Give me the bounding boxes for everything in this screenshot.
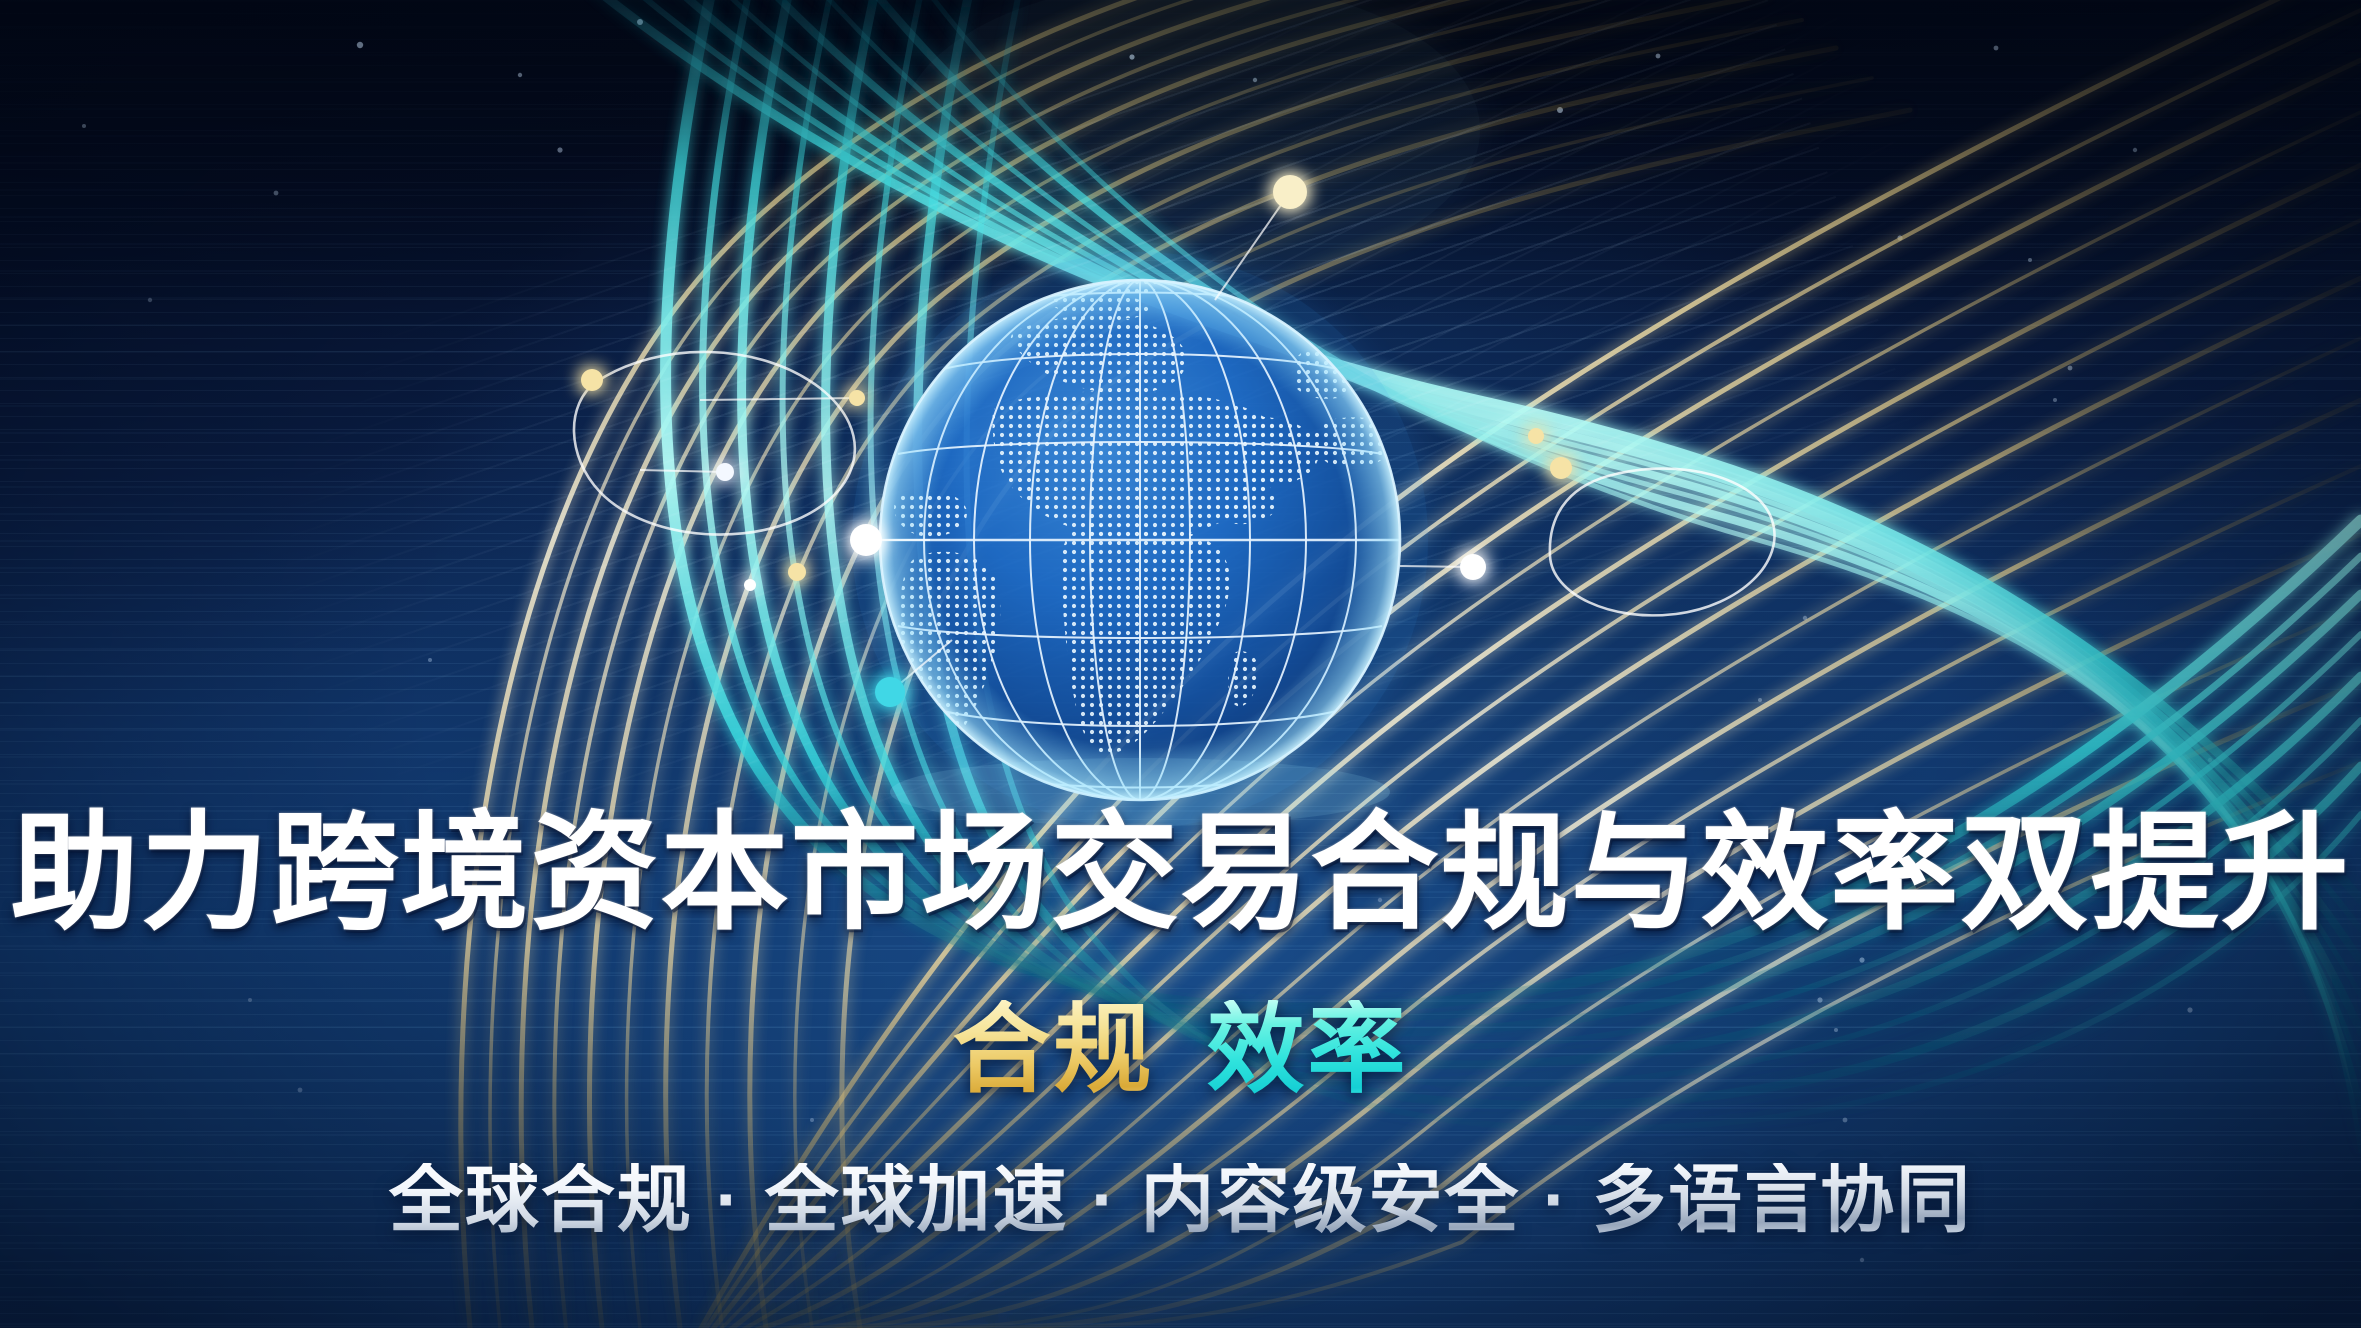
gold-ribbon-upper-arc [461, 0, 1910, 1328]
globe-underglow [890, 758, 1390, 826]
node-connectors [640, 192, 1473, 692]
node-gold-top [1273, 175, 1307, 209]
scanline-overlay-secondary [0, 0, 2361, 1328]
poster-tagline: 全球合规 · 全球加速 · 内容级安全 · 多语言协同 [0, 1163, 2361, 1237]
cyan-ribbon-lower-arc [666, 0, 2361, 1129]
node-gold-right [1550, 457, 1572, 479]
globe-layer [0, 0, 2361, 1328]
keyword-efficiency: 效率 [1207, 1000, 1409, 1098]
keyword-line: 合规效率 [0, 1000, 2361, 1098]
diagonal-streaks-left [0, 0, 2019, 1328]
cyan-ribbon [560, 0, 2361, 1152]
ribbon-crossing-highlight [900, 0, 1480, 280]
node-white-left [716, 463, 734, 481]
globe-halo [852, 252, 1428, 828]
gold-ribbon [700, 0, 2361, 1328]
ribbon-layer [0, 0, 2361, 1328]
node-gold-left [581, 369, 603, 391]
starfield-layer [0, 0, 2361, 1328]
poster-headline: 助力跨境资本市场交易合规与效率双提升 [0, 810, 2361, 938]
orbit-ring-left [574, 352, 855, 535]
node-gold-far-right [1528, 428, 1544, 444]
network-nodes [581, 175, 1572, 707]
node-white-glow [850, 524, 882, 556]
globe-continents [879, 266, 1399, 754]
node-white-small [744, 579, 756, 591]
diagonal-streaks-left-secondary [200, 0, 2361, 1328]
globe-latitudes [880, 293, 1400, 788]
poster-canvas: 助力跨境资本市场交易合规与效率双提升 合规效率 全球合规 · 全球加速 · 内容… [0, 0, 2361, 1328]
keyword-compliance: 合规 [952, 1000, 1154, 1098]
node-cyan-lower [875, 677, 905, 707]
text-block: 助力跨境资本市场交易合规与效率双提升 合规效率 全球合规 · 全球加速 · 内容… [0, 0, 2361, 1328]
orbit-ring-right [1550, 469, 1775, 616]
globe-contents [879, 266, 1400, 800]
node-gold-low [788, 563, 806, 581]
orbit-and-nodes-layer [0, 0, 2361, 1328]
node-white-right [1460, 554, 1486, 580]
globe-outline [880, 280, 1400, 800]
globe-sphere [880, 280, 1400, 800]
top-shade-overlay [0, 0, 2361, 330]
scanline-overlay [0, 0, 2361, 1328]
globe-longitudes [880, 280, 1400, 800]
globe-rim [880, 280, 1400, 800]
node-gold-mid [849, 390, 865, 406]
vignette-overlay [0, 0, 2361, 1328]
